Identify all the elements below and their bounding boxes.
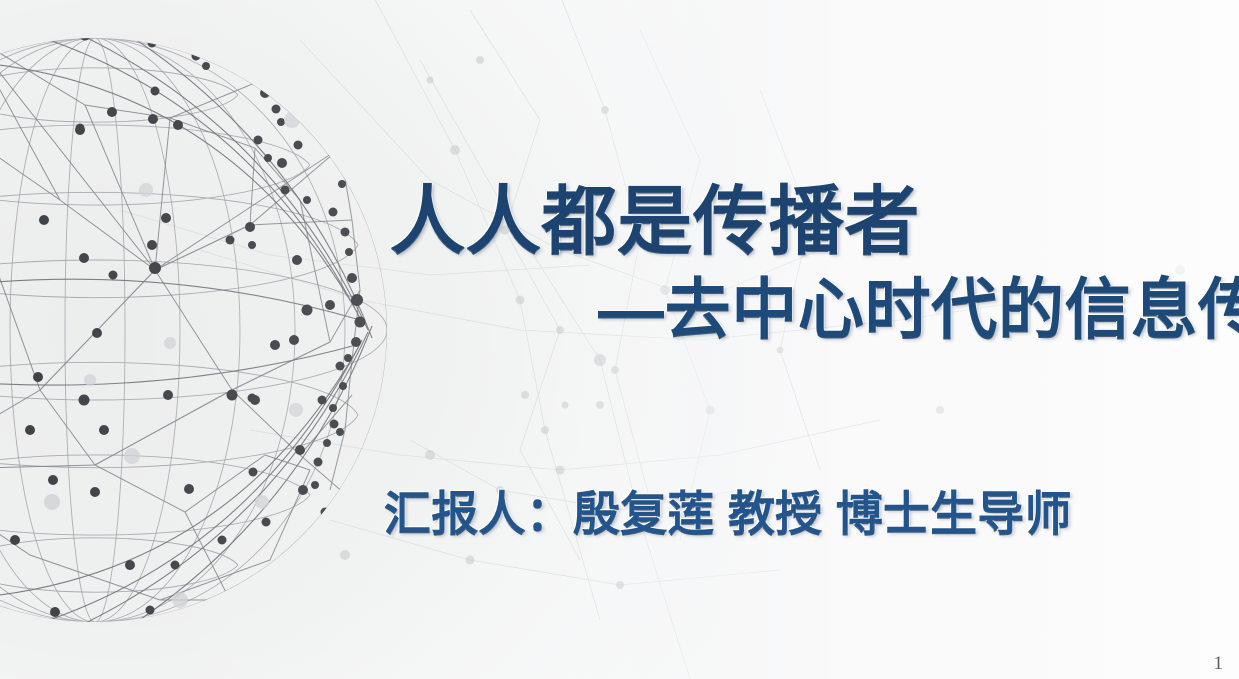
page-number: 1 bbox=[1214, 654, 1224, 673]
presentation-slide: 人人都是传播者 —去中心时代的信息传播 汇报人：殷复莲 教授 博士生导师 1 bbox=[0, 0, 1239, 679]
presenter-line: 汇报人：殷复莲 教授 博士生导师 bbox=[384, 490, 1072, 537]
slide-text-block: 人人都是传播者 —去中心时代的信息传播 汇报人：殷复莲 教授 博士生导师 bbox=[0, 0, 1239, 679]
page-subtitle: —去中心时代的信息传播 bbox=[598, 276, 1239, 342]
page-title: 人人都是传播者 bbox=[390, 184, 920, 259]
